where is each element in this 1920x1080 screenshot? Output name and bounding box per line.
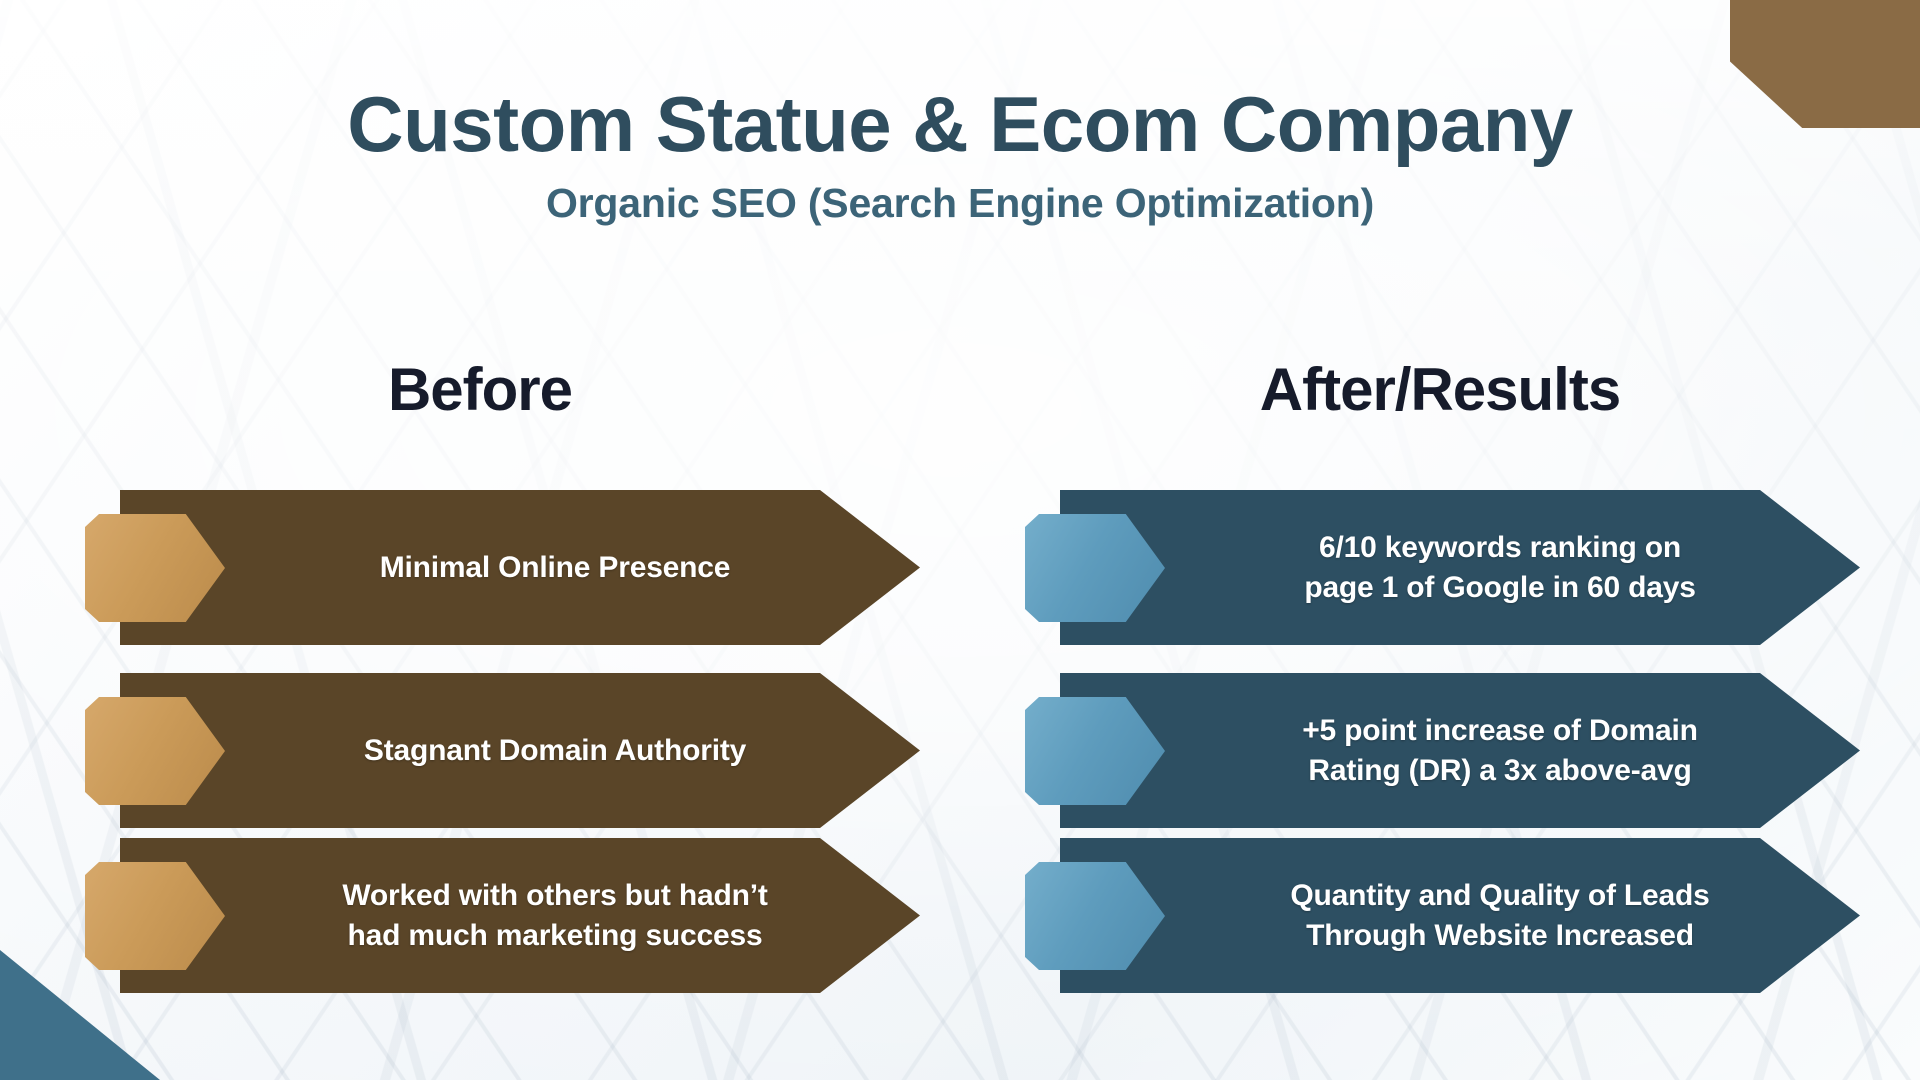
before-arrow-label-3: Worked with others but hadn’t had much m…	[265, 838, 845, 993]
slide-canvas: Custom Statue & Ecom Company Organic SEO…	[0, 0, 1920, 1080]
before-arrow-item-1: Minimal Online Presence	[85, 490, 920, 645]
after-arrow-item-2: +5 point increase of Domain Rating (DR) …	[1025, 673, 1860, 828]
before-arrow-item-3: Worked with others but hadn’t had much m…	[85, 838, 920, 993]
after-arrow-label-3: Quantity and Quality of Leads Through We…	[1205, 838, 1795, 993]
page-subtitle: Organic SEO (Search Engine Optimization)	[0, 181, 1920, 226]
page-title: Custom Statue & Ecom Company	[0, 84, 1920, 165]
after-arrow-item-1: 6/10 keywords ranking on page 1 of Googl…	[1025, 490, 1860, 645]
column-heading-after: After/Results	[960, 355, 1920, 424]
after-arrow-label-1: 6/10 keywords ranking on page 1 of Googl…	[1205, 490, 1795, 645]
after-arrow-item-3: Quantity and Quality of Leads Through We…	[1025, 838, 1860, 993]
before-arrow-item-2: Stagnant Domain Authority	[85, 673, 920, 828]
before-arrow-label-1: Minimal Online Presence	[265, 490, 845, 645]
slide-header: Custom Statue & Ecom Company Organic SEO…	[0, 84, 1920, 226]
before-arrow-label-2: Stagnant Domain Authority	[265, 673, 845, 828]
column-heading-before: Before	[0, 355, 960, 424]
after-arrow-label-2: +5 point increase of Domain Rating (DR) …	[1205, 673, 1795, 828]
